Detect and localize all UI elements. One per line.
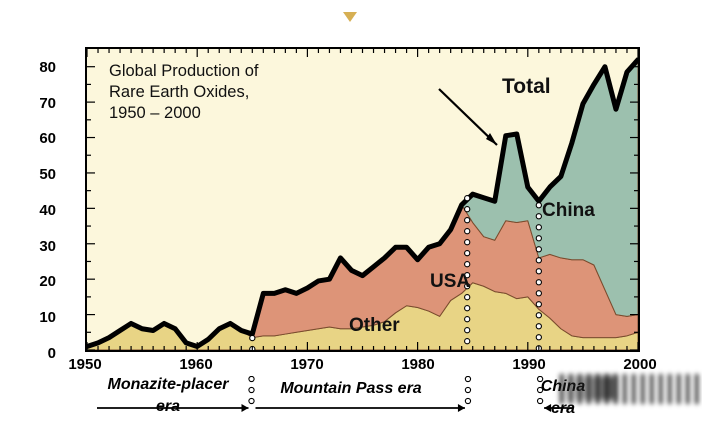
- x-tick-1970: 1970: [277, 356, 337, 373]
- era-label-mountain-pass: Mountain Pass era: [251, 380, 451, 398]
- x-tick-1990: 1990: [499, 356, 559, 373]
- y-tick-10: 10: [16, 309, 56, 326]
- y-tick-70: 70: [16, 95, 56, 112]
- series-label-usa: USA: [430, 271, 470, 293]
- era-label-monazite-line2: era: [125, 398, 211, 416]
- chart-title: Global Production of Rare Earth Oxides, …: [109, 61, 259, 124]
- y-tick-40: 40: [16, 202, 56, 219]
- era-label-monazite-line1: Monazite-placer: [93, 376, 243, 394]
- y-tick-30: 30: [16, 238, 56, 255]
- series-label-other: Other: [349, 315, 400, 337]
- era-band: Monazite-placer era Mountain Pass era Ch…: [85, 376, 640, 418]
- era-label-china-line2: era: [523, 400, 603, 418]
- chart-figure: Production, kt 0 10 20 30 40 50 60 70 80…: [0, 0, 702, 418]
- x-tick-2000: 2000: [610, 356, 670, 373]
- y-tick-50: 50: [16, 166, 56, 183]
- y-tick-60: 60: [16, 130, 56, 147]
- y-tick-80: 80: [16, 59, 56, 76]
- y-tick-0: 0: [16, 345, 56, 362]
- series-label-china: China: [542, 200, 595, 222]
- x-tick-1950: 1950: [55, 356, 115, 373]
- series-label-total: Total: [502, 75, 551, 99]
- plot-area: Global Production of Rare Earth Oxides, …: [85, 47, 640, 352]
- era-label-china-line1: China: [515, 378, 611, 396]
- triangle-down-marker: [343, 12, 357, 22]
- y-tick-20: 20: [16, 273, 56, 290]
- x-tick-1980: 1980: [388, 356, 448, 373]
- x-tick-1960: 1960: [166, 356, 226, 373]
